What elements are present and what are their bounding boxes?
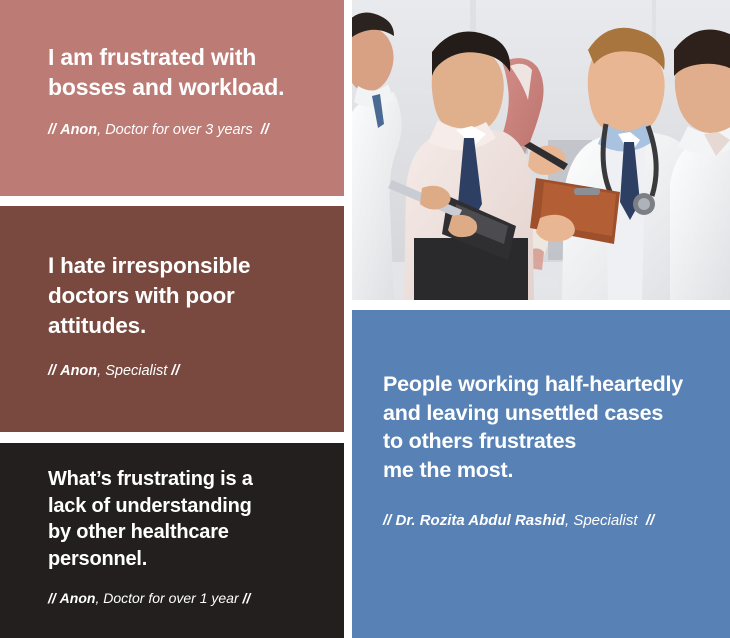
quote-attribution: // Anon, Doctor for over 3 years // — [48, 122, 314, 138]
quote-card-frustrated-bosses: I am frustrated with bosses and workload… — [0, 0, 344, 196]
quote-attribution: // Dr. Rozita Abdul Rashid, Specialist /… — [383, 512, 712, 529]
attribution-close-marker: // — [261, 122, 269, 138]
attribution-name: Anon — [60, 122, 97, 138]
quote-card-half-heartedly: People working half-heartedly and leavin… — [352, 310, 730, 638]
quote-card-irresponsible-doctors: I hate irresponsible doctors with poor a… — [0, 206, 344, 432]
photo-illustration — [352, 0, 730, 300]
quote-card-lack-understanding: What’s frustrating is a lack of understa… — [0, 443, 344, 638]
quote-card-content: I am frustrated with bosses and workload… — [0, 42, 344, 138]
quote-text: People working half-heartedly and leavin… — [383, 370, 712, 484]
attribution-role: Doctor for over 1 year — [103, 590, 238, 606]
attribution-open-marker: // — [48, 590, 56, 606]
quote-card-content: People working half-heartedly and leavin… — [352, 370, 730, 529]
attribution-open-marker: // — [48, 122, 56, 138]
attribution-close-marker: // — [243, 590, 251, 606]
quote-attribution: // Anon, Specialist // — [48, 363, 314, 379]
person-far-right-woman — [670, 30, 730, 300]
attribution-role: Specialist — [573, 512, 637, 529]
quote-collage-board: I am frustrated with bosses and workload… — [0, 0, 730, 638]
quote-text: What’s frustrating is a lack of understa… — [48, 466, 322, 572]
photo-medical-team — [352, 0, 730, 300]
quote-attribution: // Anon, Doctor for over 1 year // — [48, 590, 322, 606]
attribution-name: Anon — [60, 363, 97, 379]
quote-card-content: I hate irresponsible doctors with poor a… — [0, 251, 344, 379]
quote-card-content: What’s frustrating is a lack of understa… — [0, 466, 344, 606]
attribution-open-marker: // — [48, 363, 56, 379]
attribution-close-marker: // — [646, 512, 654, 529]
attribution-close-marker: // — [171, 363, 179, 379]
attribution-role: Specialist — [105, 363, 167, 379]
attribution-role: Doctor for over 3 years — [105, 122, 252, 138]
quote-text: I hate irresponsible doctors with poor a… — [48, 251, 314, 341]
quote-text: I am frustrated with bosses and workload… — [48, 42, 314, 102]
attribution-name: Anon — [60, 590, 96, 606]
attribution-name: Dr. Rozita Abdul Rashid — [396, 512, 565, 529]
